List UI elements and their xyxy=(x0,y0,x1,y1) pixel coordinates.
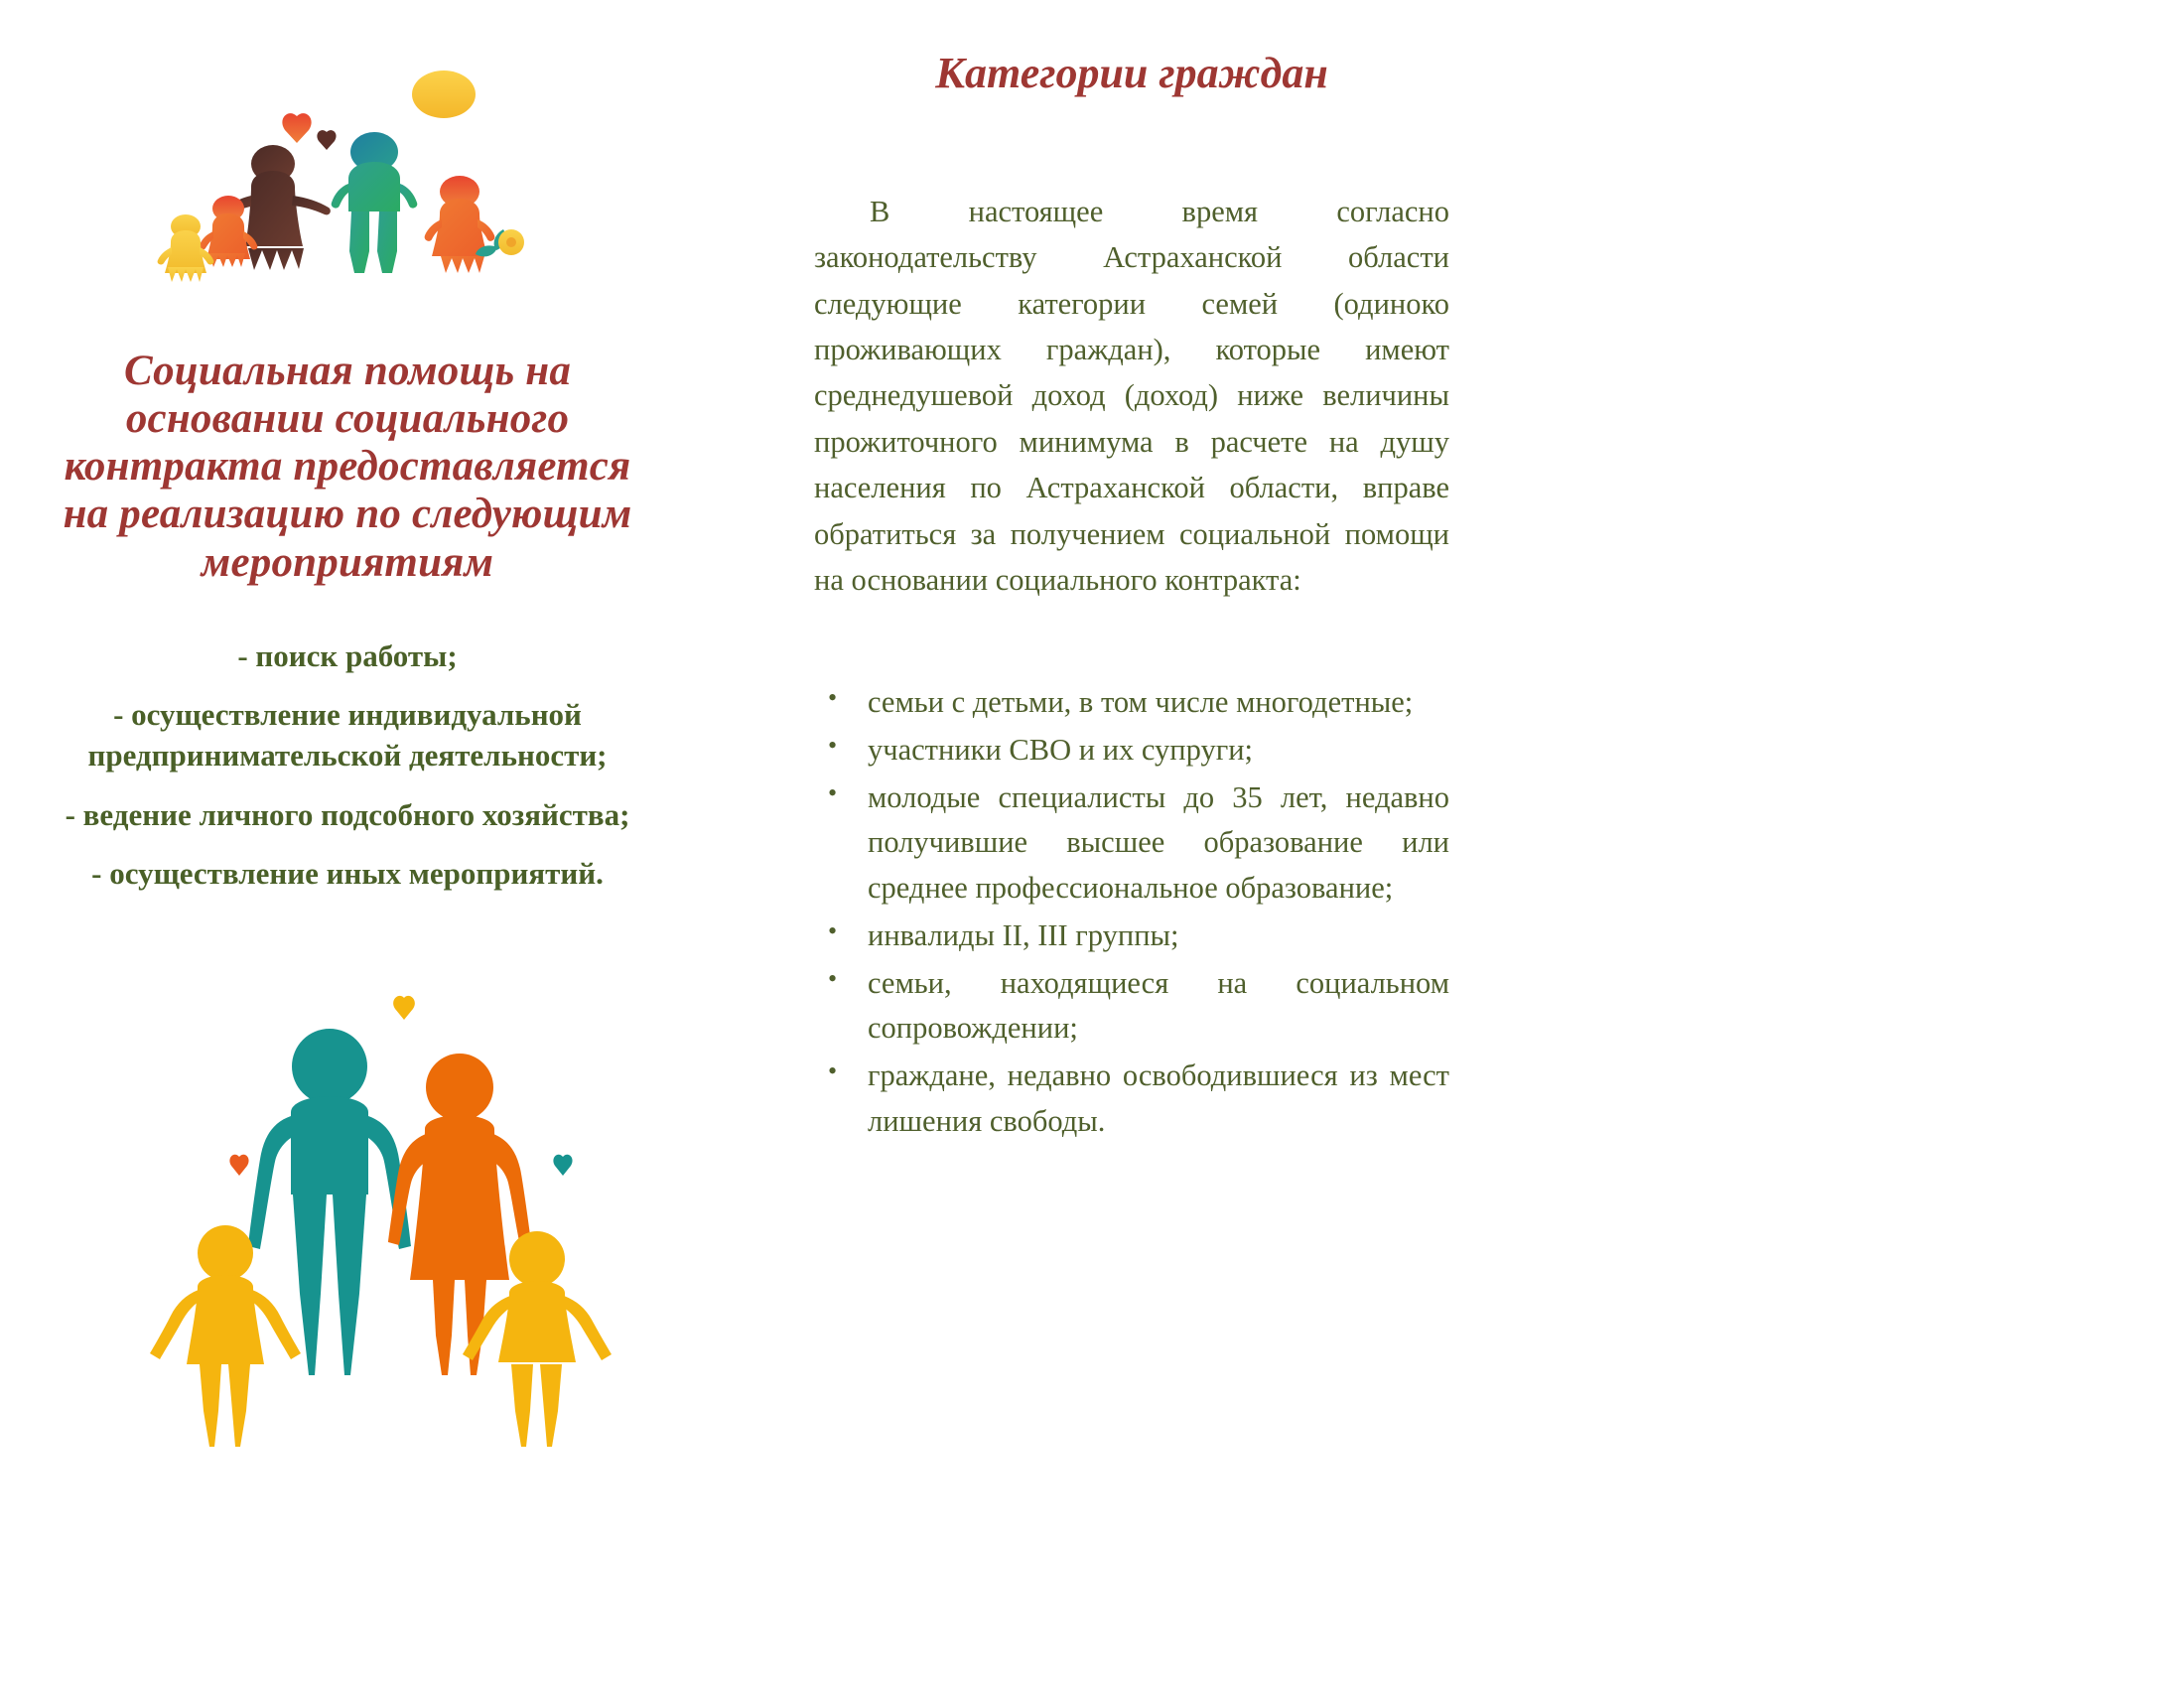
list-item: граждане, недавно освободившиеся из мест… xyxy=(814,1054,1449,1145)
measures-list: - поиск работы; - осуществление индивиду… xyxy=(0,635,695,912)
middle-column: Категории граждан В настоящее время согл… xyxy=(814,0,1449,1688)
brochure-page: Социальная помощь на основании социально… xyxy=(0,0,2184,1688)
left-panel-heading: Социальная помощь на основании социально… xyxy=(40,348,655,587)
measure-item: - поиск работы; xyxy=(0,635,695,676)
right-column: АСТРАХАНСКАЯ ОБЛАСТЬ xyxy=(1519,0,2184,1688)
categories-intro-paragraph: В настоящее время согласно законодательс… xyxy=(814,189,1449,603)
family-with-children-paper-cut-illustration xyxy=(134,25,561,323)
measure-item: - осуществление индивидуальной предприни… xyxy=(0,694,695,775)
list-item: молодые специалисты до 35 лет, недавно п… xyxy=(814,775,1449,912)
list-item: семьи, находящиеся на социальном сопрово… xyxy=(814,961,1449,1053)
measure-item: - осуществление иных мероприятий. xyxy=(0,853,695,894)
list-item: инвалиды II, III группы; xyxy=(814,914,1449,959)
measure-item: - ведение личного подсобного хозяйства; xyxy=(0,794,695,835)
left-column: Социальная помощь на основании социально… xyxy=(0,0,695,1688)
family-pictogram-parents-two-children-hearts xyxy=(129,978,615,1375)
categories-bullet-list: семьи с детьми, в том числе многодетные;… xyxy=(814,680,1449,1147)
categories-title: Категории граждан xyxy=(814,48,1449,98)
list-item: участники СВО и их супруги; xyxy=(814,728,1449,774)
list-item: семьи с детьми, в том числе многодетные; xyxy=(814,680,1449,726)
